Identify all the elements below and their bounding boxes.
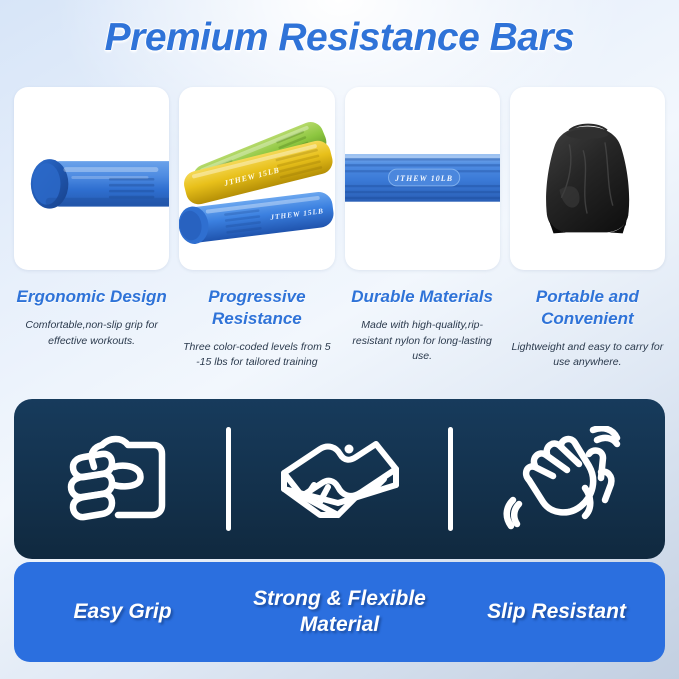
feature-card-title: Progressive Resistance bbox=[179, 286, 334, 330]
panel-divider-2 bbox=[448, 427, 453, 531]
page-title-wrap: Premium Resistance Bars bbox=[0, 16, 679, 60]
fist-icon bbox=[58, 427, 176, 531]
benefits-icon-panel bbox=[14, 399, 665, 559]
feature-card-durable-materials[interactable]: JTHEW 10LB Durable Materials Made with h… bbox=[345, 87, 500, 371]
durable-bar-illustration: JTHEW 10LB bbox=[345, 87, 500, 268]
blue-bar-illustration bbox=[14, 87, 169, 268]
feature-card-ergonomic-design[interactable]: Ergonomic Design Comfortable,non-slip gr… bbox=[14, 87, 169, 371]
clapping-hands-icon-wrap bbox=[497, 426, 627, 532]
feature-card-progressive-resistance[interactable]: JTHEW 15LB JTHEW 15LB bbox=[179, 87, 334, 371]
feature-card-title: Ergonomic Design bbox=[14, 286, 169, 308]
feature-card-portable-convenient[interactable]: Portable and Convenient Lightweight and … bbox=[510, 87, 665, 371]
clapping-hands-icon bbox=[501, 426, 623, 532]
three-color-bars-photo: JTHEW 15LB JTHEW 15LB bbox=[179, 87, 334, 270]
drawstring-bag-illustration bbox=[510, 87, 665, 268]
feature-card-description: Lightweight and easy to carry for use an… bbox=[510, 340, 665, 372]
benefit-label-strong-flexible: Strong & Flexible Material bbox=[231, 586, 448, 637]
durable-blue-bar-photo: JTHEW 10LB bbox=[345, 87, 500, 270]
black-drawstring-bag-photo bbox=[510, 87, 665, 270]
three-color-bars-illustration: JTHEW 15LB JTHEW 15LB bbox=[179, 87, 334, 268]
page-title: Premium Resistance Bars bbox=[105, 16, 575, 60]
fist-icon-wrap bbox=[52, 427, 182, 531]
panel-divider-1 bbox=[226, 427, 231, 531]
feature-card-description: Made with high-quality,rip-resistant nyl… bbox=[345, 318, 500, 365]
ergonomic-blue-bar-photo bbox=[14, 87, 169, 270]
svg-text:JTHEW 10LB: JTHEW 10LB bbox=[394, 174, 453, 183]
flexible-material-icon bbox=[276, 427, 404, 531]
feature-card-title: Durable Materials bbox=[345, 286, 500, 308]
flexible-material-icon-wrap bbox=[275, 427, 405, 531]
feature-card-description: Comfortable,non-slip grip for effective … bbox=[14, 318, 169, 350]
benefit-label-easy-grip: Easy Grip bbox=[14, 599, 231, 625]
feature-card-title: Portable and Convenient bbox=[510, 286, 665, 330]
benefit-label-slip-resistant: Slip Resistant bbox=[448, 599, 665, 625]
feature-cards-row: Ergonomic Design Comfortable,non-slip gr… bbox=[14, 87, 665, 371]
benefits-label-bar: Easy Grip Strong & Flexible Material Sli… bbox=[14, 562, 665, 662]
feature-card-description: Three color-coded levels from 5 -15 lbs … bbox=[179, 340, 334, 372]
